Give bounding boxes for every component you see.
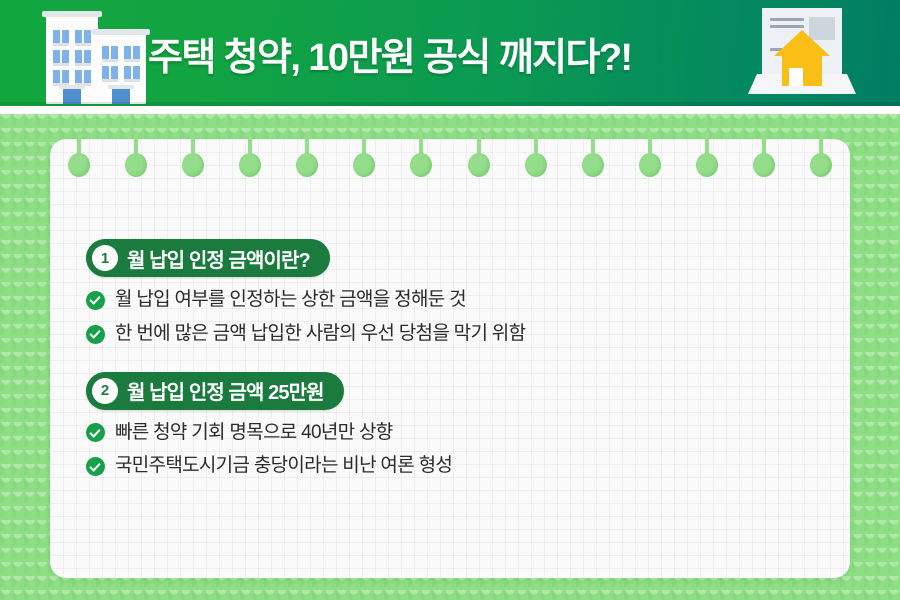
building-window — [53, 70, 69, 86]
bullet-text: 빠른 청약 기회 명목으로 40년만 상향 — [115, 422, 393, 445]
check-circle-icon — [86, 423, 105, 442]
check-circle-icon — [86, 325, 105, 344]
section-2: 2 월 납입 인정 금액 25만원 빠른 청약 기회 명목으로 40년만 상향 … — [86, 372, 820, 479]
headline: 주택 청약, 10만원 공식 깨지다?! — [148, 0, 631, 106]
section-1-bullet-list: 월 납입 여부를 인정하는 상한 금액을 정해둔 것 한 번에 많은 금액 납입… — [86, 289, 820, 346]
building-window — [102, 66, 118, 82]
building-tall-roof — [42, 11, 102, 17]
bullet-text: 월 납입 여부를 인정하는 상한 금액을 정해둔 것 — [115, 289, 466, 312]
building-short — [96, 34, 146, 104]
headline-text: 주택 청약, 10만원 공식 깨지다?! — [148, 26, 631, 81]
house-door — [789, 68, 803, 86]
list-item: 국민주택도시기금 충당이라는 비난 여론 형성 — [86, 455, 820, 478]
section-2-number: 2 — [92, 378, 118, 404]
building-window — [53, 30, 69, 46]
note-card: 1 월 납입 인정 금액이란? 월 납입 여부를 인정하는 상한 금액을 정해둔… — [50, 139, 850, 578]
list-item: 빠른 청약 기회 명목으로 40년만 상향 — [86, 422, 820, 445]
card-content: 1 월 납입 인정 금액이란? 월 납입 여부를 인정하는 상한 금액을 정해둔… — [86, 239, 820, 478]
section-1-number: 1 — [92, 245, 118, 271]
screen-text-line — [770, 25, 804, 28]
building-door — [112, 89, 130, 104]
laptop-house-icon — [748, 8, 856, 98]
house-roof — [774, 30, 830, 56]
list-item: 월 납입 여부를 인정하는 상한 금액을 정해둔 것 — [86, 289, 820, 312]
section-1-heading-pill: 1 월 납입 인정 금액이란? — [86, 239, 330, 277]
list-item: 한 번에 많은 금액 납입한 사람의 우선 당첨을 막기 위함 — [86, 323, 820, 346]
building-window — [124, 46, 140, 62]
section-2-bullet-list: 빠른 청약 기회 명목으로 40년만 상향 국민주택도시기금 충당이라는 비난 … — [86, 422, 820, 479]
building-window — [124, 66, 140, 82]
building-window — [75, 50, 91, 66]
building-door-awning — [59, 85, 85, 89]
building-door — [63, 89, 81, 104]
building-window — [75, 70, 91, 86]
header-banner: 주택 청약, 10만원 공식 깨지다?! — [0, 0, 900, 106]
building-short-roof — [92, 29, 150, 35]
building-window — [75, 30, 91, 46]
bullet-text: 국민주택도시기금 충당이라는 비난 여론 형성 — [115, 455, 452, 478]
check-circle-icon — [86, 457, 105, 476]
check-circle-icon — [86, 291, 105, 310]
section-1-heading-label: 월 납입 인정 금액이란? — [127, 244, 310, 273]
house-icon — [774, 30, 830, 86]
building-tall — [46, 16, 98, 104]
screen-text-line — [770, 18, 804, 21]
apartment-buildings-icon — [46, 8, 148, 104]
section-2-heading-pill: 2 월 납입 인정 금액 25만원 — [86, 372, 344, 410]
section-2-heading-label: 월 납입 인정 금액 25만원 — [127, 376, 324, 405]
building-window — [53, 50, 69, 66]
building-door-awning — [108, 85, 134, 89]
section-1: 1 월 납입 인정 금액이란? 월 납입 여부를 인정하는 상한 금액을 정해둔… — [86, 239, 820, 346]
bullet-text: 한 번에 많은 금액 납입한 사람의 우선 당첨을 막기 위함 — [115, 323, 525, 346]
infographic-root: 주택 청약, 10만원 공식 깨지다?! 1 — [0, 0, 900, 600]
building-window — [102, 46, 118, 62]
